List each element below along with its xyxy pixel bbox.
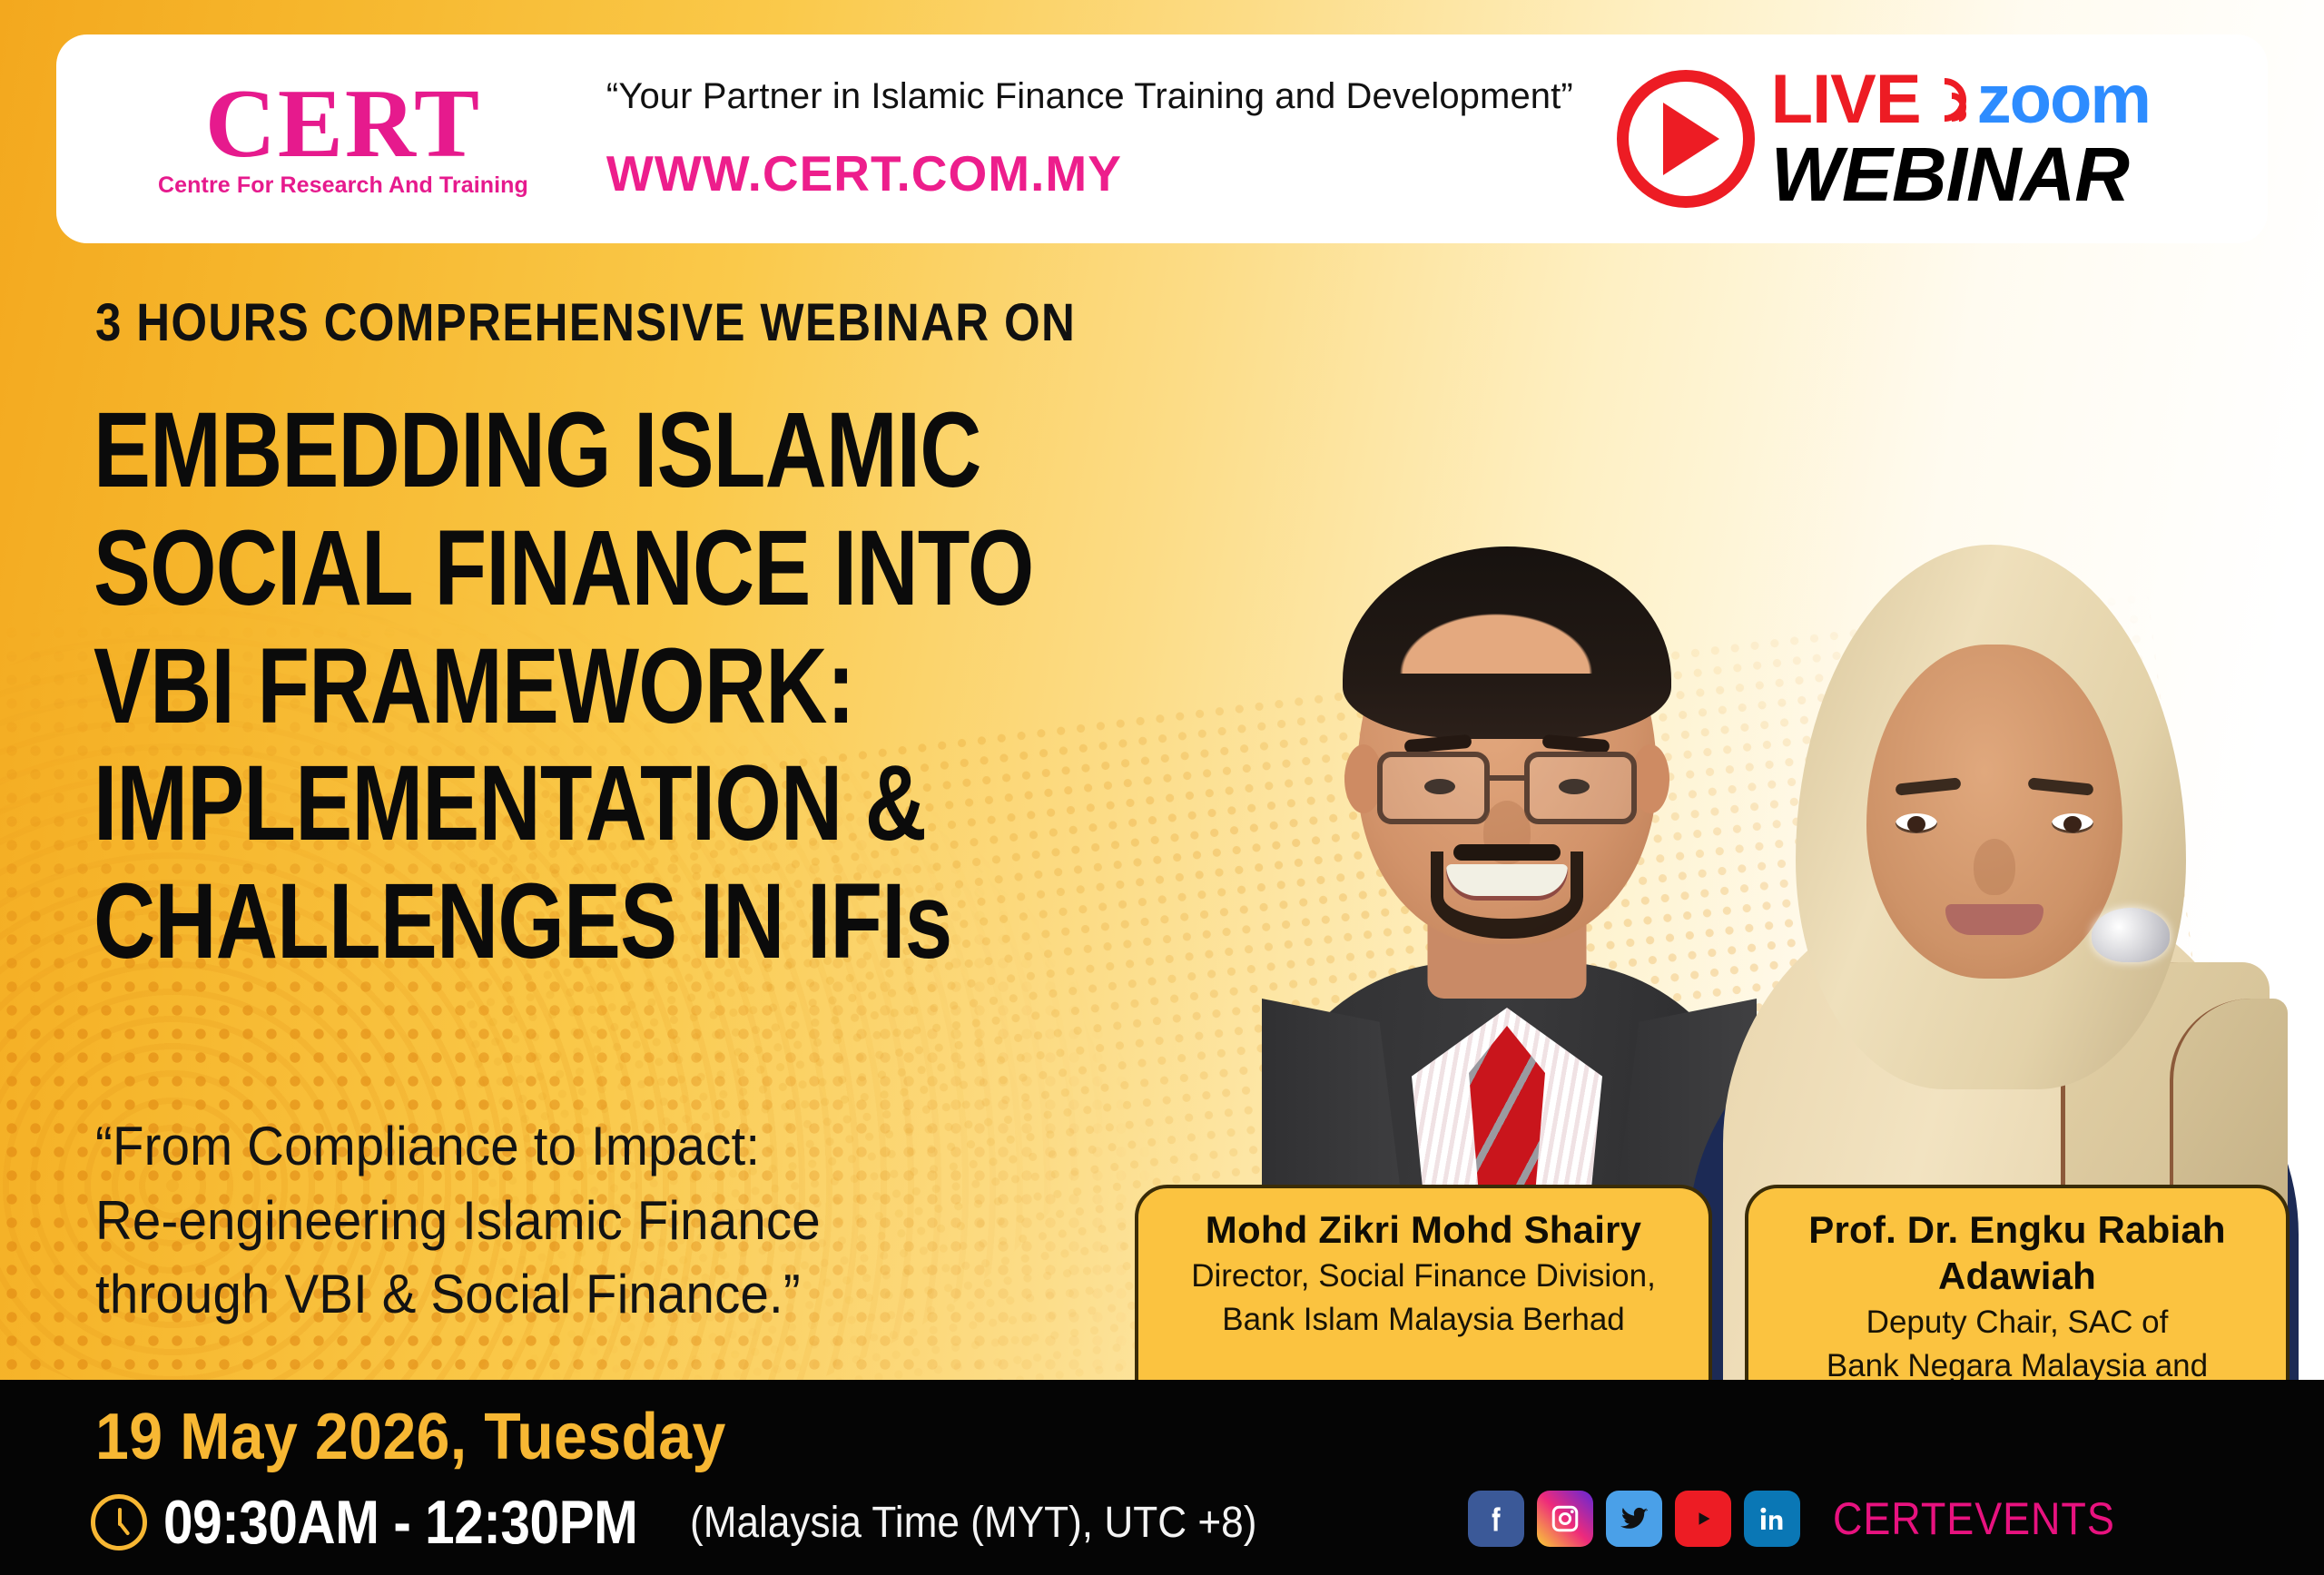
social-links: CERTEVENTS bbox=[1468, 1491, 2146, 1547]
instagram-icon[interactable] bbox=[1537, 1491, 1593, 1547]
brooch-icon bbox=[2092, 908, 2170, 962]
header-text-block: “Your Partner in Islamic Finance Trainin… bbox=[606, 76, 1573, 202]
play-button-icon bbox=[1617, 70, 1755, 208]
company-tagline: “Your Partner in Islamic Finance Trainin… bbox=[606, 76, 1573, 117]
cert-logo-subtitle: Centre For Research And Training bbox=[158, 172, 528, 199]
speaker-name: Prof. Dr. Engku Rabiah Adawiah bbox=[1779, 1206, 2255, 1299]
quote-line: through VBI & Social Finance.” bbox=[95, 1257, 821, 1332]
speaker-role-line: Bank Islam Malaysia Berhad bbox=[1169, 1300, 1678, 1340]
page-title: EMBEDDING ISLAMIC SOCIAL FINANCE INTO VB… bbox=[94, 392, 1268, 981]
speaker-name: Mohd Zikri Mohd Shairy bbox=[1169, 1206, 1678, 1253]
speaker-role-line: Director, Social Finance Division, bbox=[1169, 1256, 1678, 1296]
event-time: 09:30AM - 12:30PM bbox=[163, 1487, 637, 1558]
badge-top-row: LIVE zoom bbox=[1771, 65, 2150, 134]
footer-bar: 19 May 2026, Tuesday 09:30AM - 12:30PM (… bbox=[0, 1380, 2324, 1575]
twitter-icon[interactable] bbox=[1606, 1491, 1662, 1547]
event-time-row: 09:30AM - 12:30PM (Malaysia Time (MYT), … bbox=[91, 1487, 1305, 1558]
play-triangle-icon bbox=[1663, 103, 1719, 175]
badge-words: LIVE zoom WEBINAR bbox=[1771, 65, 2150, 212]
wifi-signal-icon bbox=[1925, 74, 1972, 125]
clock-icon bbox=[91, 1494, 147, 1550]
title-line: IMPLEMENTATION & bbox=[94, 745, 1034, 863]
zoom-label: zoom bbox=[1977, 65, 2150, 134]
youtube-icon[interactable] bbox=[1675, 1491, 1731, 1547]
speaker-role-line: Deputy Chair, SAC of bbox=[1779, 1303, 2255, 1343]
webinar-label: WEBINAR bbox=[1771, 136, 2150, 212]
live-label: LIVE bbox=[1771, 65, 1921, 134]
linkedin-icon[interactable] bbox=[1744, 1491, 1800, 1547]
header-card: CERT Centre For Research And Training “Y… bbox=[56, 34, 2268, 243]
facebook-icon[interactable] bbox=[1468, 1491, 1524, 1547]
webinar-poster: CERT Centre For Research And Training “Y… bbox=[0, 0, 2324, 1575]
title-line: VBI FRAMEWORK: bbox=[94, 628, 1034, 746]
quote-line: “From Compliance to Impact: bbox=[95, 1109, 821, 1184]
social-handle: CERTEVENTS bbox=[1833, 1492, 2115, 1545]
event-timezone: (Malaysia Time (MYT), UTC +8) bbox=[690, 1498, 1256, 1548]
kicker-text: 3 HOURS COMPREHENSIVE WEBINAR ON bbox=[95, 292, 1076, 353]
live-zoom-webinar-badge: LIVE zoom WEBINAR bbox=[1617, 65, 2150, 212]
website-url[interactable]: WWW.CERT.COM.MY bbox=[606, 144, 1573, 202]
title-line: EMBEDDING ISLAMIC bbox=[94, 392, 1034, 510]
cert-logo-word: CERT bbox=[158, 79, 528, 169]
event-date: 19 May 2026, Tuesday bbox=[95, 1400, 726, 1474]
title-line: CHALLENGES IN IFIs bbox=[94, 863, 1034, 981]
quote-line: Re-engineering Islamic Finance bbox=[95, 1184, 821, 1258]
cert-logo[interactable]: CERT Centre For Research And Training bbox=[158, 79, 528, 199]
subtitle-quote: “From Compliance to Impact: Re-engineeri… bbox=[95, 1109, 867, 1332]
title-line: SOCIAL FINANCE INTO bbox=[94, 510, 1034, 628]
